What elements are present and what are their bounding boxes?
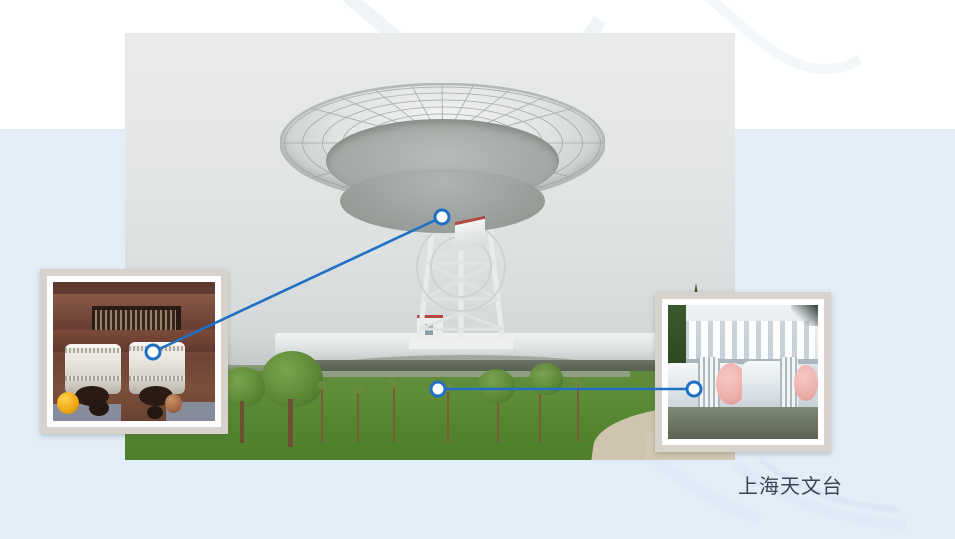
person-head (165, 394, 182, 413)
orange-sphere (57, 392, 79, 414)
callout-detail-right (655, 292, 831, 452)
sapling (577, 383, 579, 441)
callout-left-photo (53, 282, 215, 421)
sapling (447, 387, 449, 443)
sapling (357, 389, 359, 443)
callout-right-photo (668, 305, 818, 439)
pink-end-cap-rear (794, 365, 818, 401)
sapling (321, 385, 323, 443)
sapling-foliage (443, 383, 452, 392)
sapling (393, 383, 395, 443)
sapling-foliage (317, 381, 326, 390)
foreground-tree (261, 351, 323, 447)
shrub (477, 369, 515, 409)
slide-canvas: 上海天文台 (0, 0, 955, 539)
callout-detail-left (40, 269, 228, 434)
sapling-foliage (389, 379, 398, 388)
sapling-foliage (353, 385, 362, 394)
photo-caption: 上海天文台 (738, 470, 843, 499)
shrub (529, 363, 563, 401)
parabolic-dish (280, 83, 605, 258)
sapling-foliage (573, 379, 582, 388)
dish-backing-truss (340, 169, 545, 233)
